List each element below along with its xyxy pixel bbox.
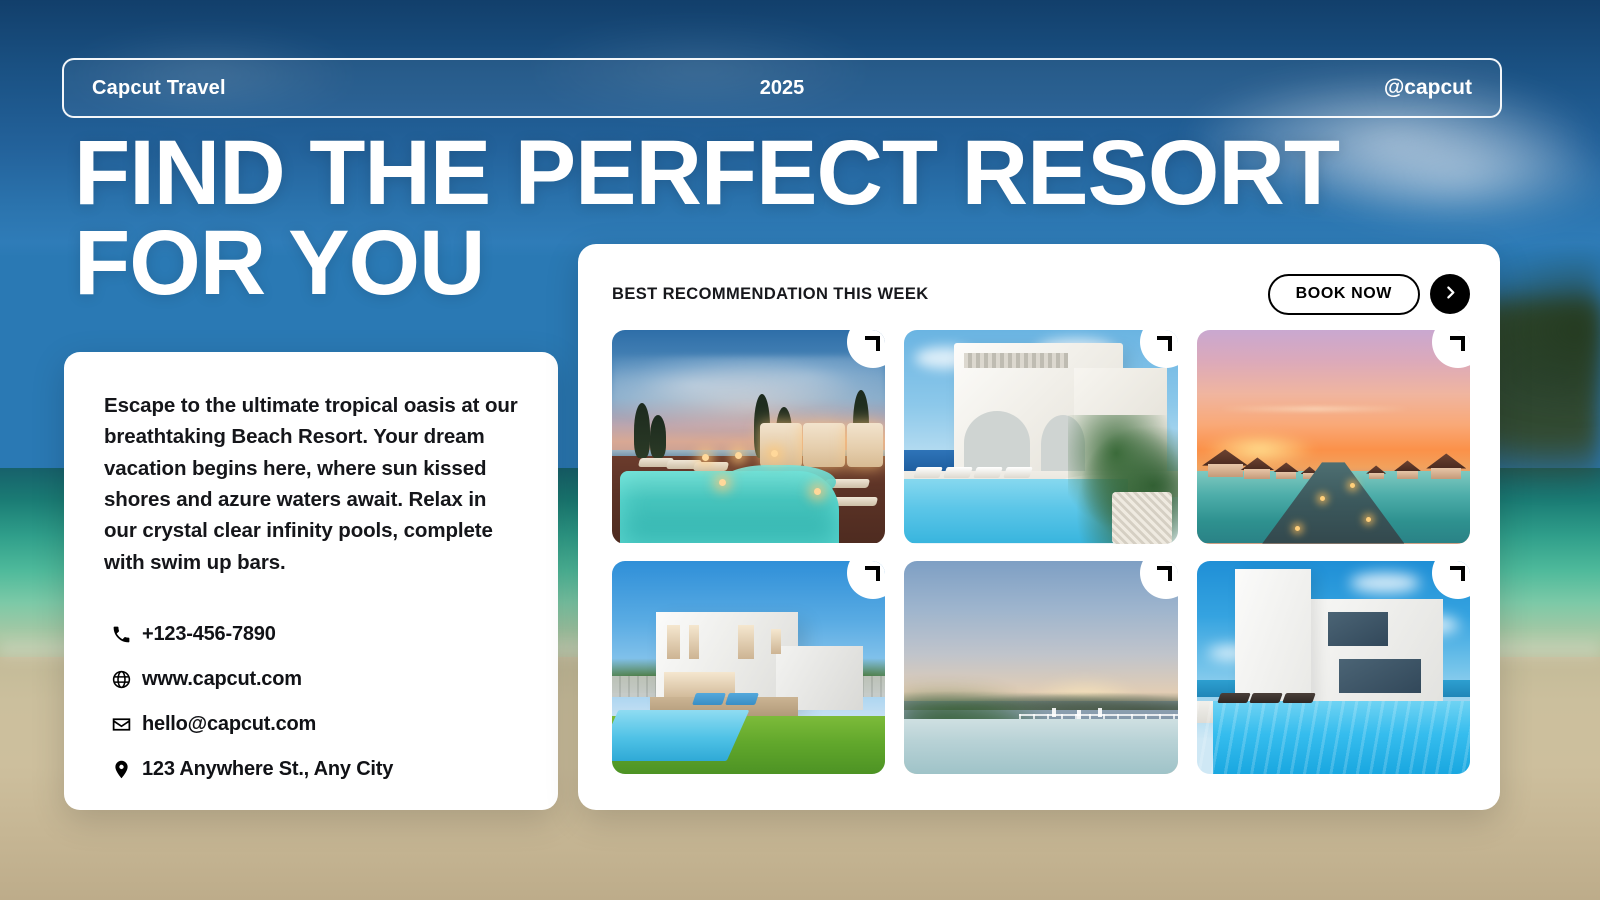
contact-list: +123-456-7890 www.capcut.com bbox=[104, 612, 522, 792]
book-now-button[interactable]: Book Now bbox=[1268, 274, 1420, 315]
headline-line-1: Find The Perfect Resort bbox=[74, 128, 1514, 218]
year-label: 2025 bbox=[64, 77, 1500, 100]
gallery-grid bbox=[612, 330, 1470, 774]
chevron-right-icon bbox=[1442, 284, 1459, 304]
gallery-tile-white-villa-pool[interactable] bbox=[904, 330, 1177, 544]
top-bar: Capcut Travel 2025 @capcut bbox=[62, 58, 1502, 118]
tile-image bbox=[1197, 330, 1470, 544]
recommendation-panel: Best Recommendation This Week Book Now bbox=[578, 244, 1500, 810]
gallery-title: Best Recommendation This Week bbox=[612, 285, 929, 304]
tile-image bbox=[612, 561, 885, 775]
contact-row-phone[interactable]: +123-456-7890 bbox=[104, 612, 522, 657]
gallery-tile-villa-long-pool[interactable] bbox=[1197, 561, 1470, 775]
contact-email-text: hello@capcut.com bbox=[142, 713, 316, 736]
poster-canvas: Capcut Travel 2025 @capcut Find The Perf… bbox=[0, 0, 1600, 900]
gallery-tile-overwater-bungalows[interactable] bbox=[1197, 330, 1470, 544]
tile-image bbox=[904, 330, 1177, 544]
contact-website-text: www.capcut.com bbox=[142, 668, 302, 691]
contact-address-text: 123 Anywhere St., Any City bbox=[142, 758, 393, 781]
tile-image bbox=[612, 330, 885, 544]
gallery-tile-modern-villa-lawn[interactable] bbox=[612, 561, 885, 775]
contact-row-address[interactable]: 123 Anywhere St., Any City bbox=[104, 747, 522, 792]
social-handle: @capcut bbox=[1384, 76, 1472, 100]
contact-row-website[interactable]: www.capcut.com bbox=[104, 657, 522, 702]
envelope-icon bbox=[104, 714, 138, 735]
info-card: Escape to the ultimate tropical oasis at… bbox=[64, 352, 558, 810]
contact-row-email[interactable]: hello@capcut.com bbox=[104, 702, 522, 747]
gallery-header: Best Recommendation This Week Book Now bbox=[612, 272, 1470, 316]
gallery-tile-infinity-pool-bay[interactable] bbox=[904, 561, 1177, 775]
brand-name: Capcut Travel bbox=[92, 77, 226, 100]
location-pin-icon bbox=[104, 759, 138, 780]
contact-phone-text: +123-456-7890 bbox=[142, 623, 276, 646]
next-button[interactable] bbox=[1430, 274, 1470, 314]
globe-icon bbox=[104, 669, 138, 690]
tile-image bbox=[904, 561, 1177, 775]
gallery-tile-twilight-pool-resort[interactable] bbox=[612, 330, 885, 544]
phone-icon bbox=[104, 624, 138, 645]
description-text: Escape to the ultimate tropical oasis at… bbox=[104, 390, 522, 578]
gallery-actions: Book Now bbox=[1268, 274, 1470, 315]
tile-image bbox=[1197, 561, 1470, 775]
